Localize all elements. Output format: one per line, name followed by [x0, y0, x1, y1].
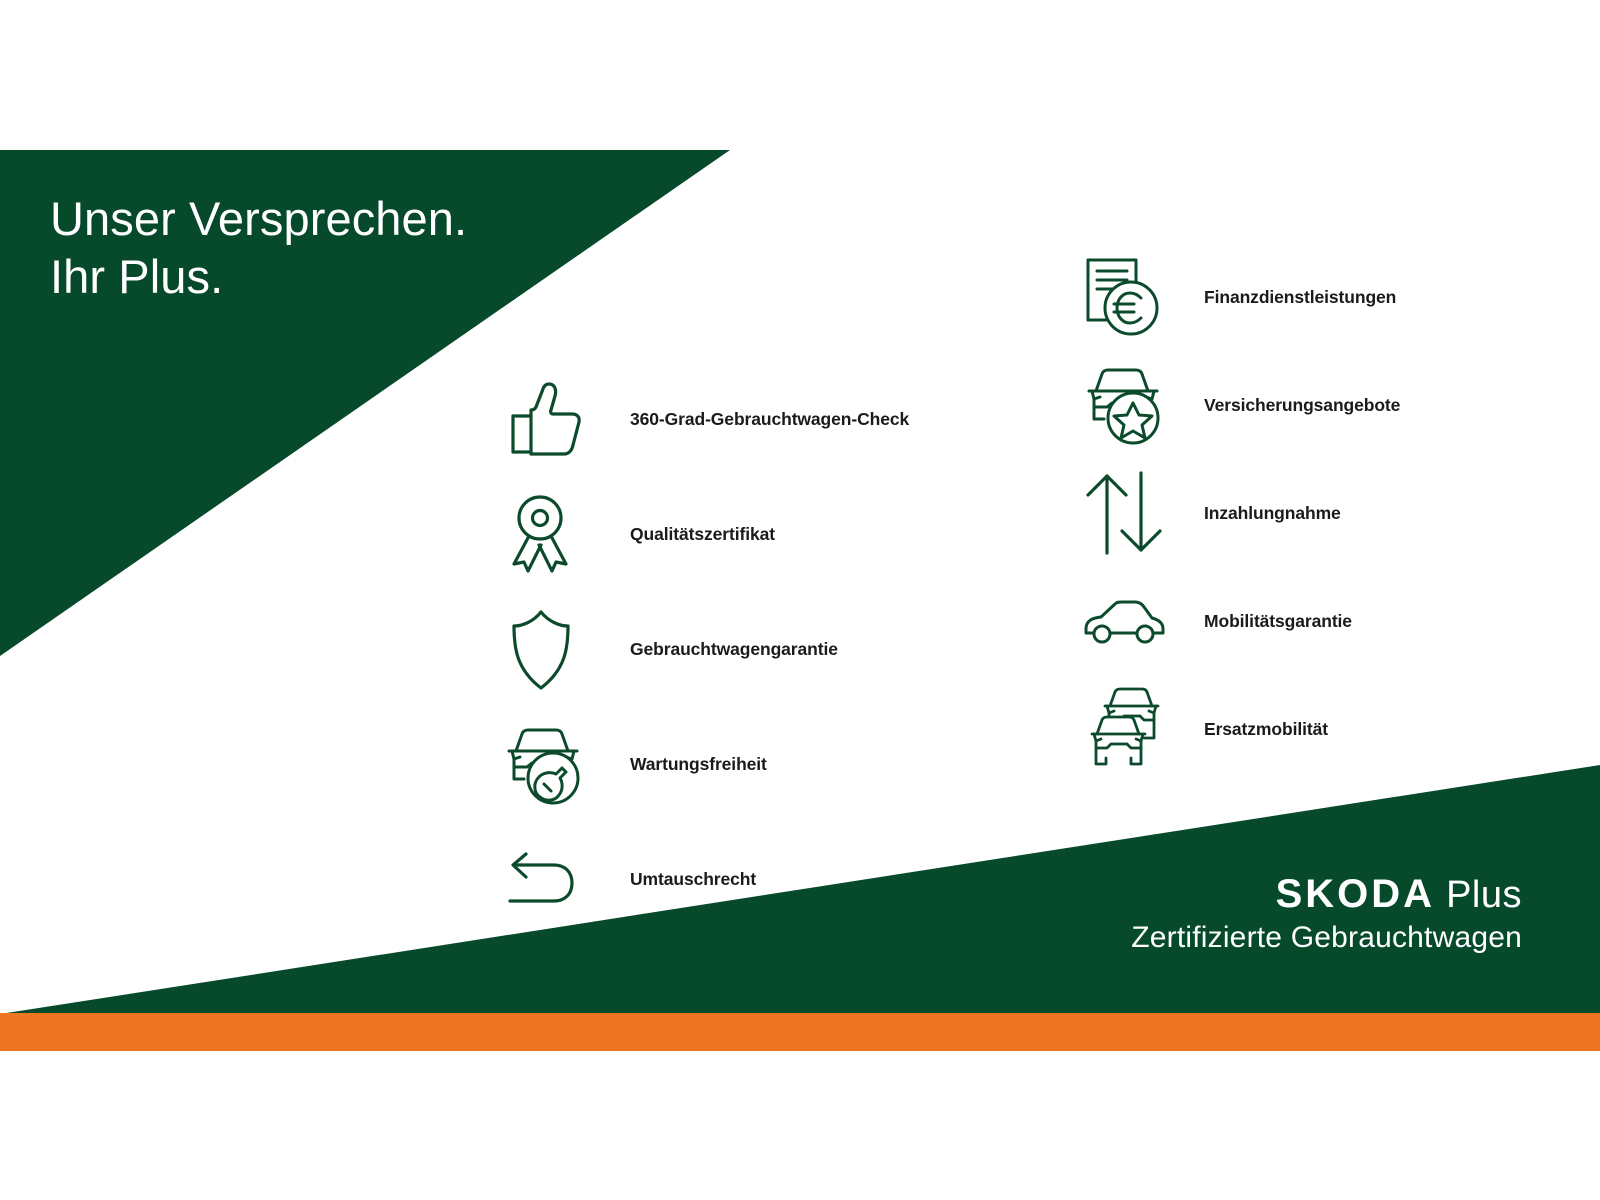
- list-item: Versicherungsangebote: [1080, 351, 1580, 459]
- list-item: Gebrauchtwagengarantie: [500, 592, 1020, 707]
- headline-line-2: Ihr Plus.: [50, 248, 690, 306]
- brand-name: SKODA Plus: [1131, 872, 1522, 917]
- list-item: Mobilitätsgarantie: [1080, 567, 1580, 675]
- award-rosette-icon: [500, 489, 596, 581]
- car-star-icon: [1080, 359, 1176, 451]
- thumbs-up-icon: [500, 374, 596, 466]
- list-item: Qualitätszertifikat: [500, 477, 1020, 592]
- shield-icon: [500, 604, 596, 696]
- feature-list-right: Finanzdienstleistungen Versicherungsange…: [1080, 243, 1580, 783]
- car-wrench-icon: [500, 719, 596, 811]
- page-title: Unser Versprechen. Ihr Plus.: [50, 190, 690, 306]
- list-item: Inzahlungnahme: [1080, 459, 1580, 567]
- list-item-label: Ersatzmobilität: [1204, 719, 1328, 740]
- list-item-label: Inzahlungnahme: [1204, 503, 1341, 524]
- brand-tagline: Zertifizierte Gebrauchtwagen: [1131, 919, 1522, 957]
- promo-banner: Unser Versprechen. Ihr Plus. 360-Grad-Ge…: [0, 0, 1600, 1200]
- list-item-label: 360-Grad-Gebrauchtwagen-Check: [630, 409, 909, 430]
- car-side-icon: [1080, 575, 1176, 667]
- feature-list-left: 360-Grad-Gebrauchtwagen-Check Qualitätsz…: [500, 362, 1020, 937]
- list-item: Finanzdienstleistungen: [1080, 243, 1580, 351]
- orange-accent-bar: [0, 1013, 1600, 1051]
- list-item-label: Wartungsfreiheit: [630, 754, 767, 775]
- headline-line-1: Unser Versprechen.: [50, 192, 467, 245]
- return-arrow-icon: [500, 834, 596, 926]
- brand-lockup: SKODA Plus Zertifizierte Gebrauchtwagen: [1131, 872, 1522, 957]
- list-item-label: Gebrauchtwagengarantie: [630, 639, 838, 660]
- list-item-label: Umtauschrecht: [630, 869, 756, 890]
- list-item: Umtauschrecht: [500, 822, 1020, 937]
- list-item: Wartungsfreiheit: [500, 707, 1020, 822]
- two-cars-icon: [1080, 683, 1176, 775]
- list-item-label: Finanzdienstleistungen: [1204, 287, 1396, 308]
- list-item: Ersatzmobilität: [1080, 675, 1580, 783]
- brand-plus: Plus: [1435, 874, 1522, 916]
- up-down-arrows-icon: [1080, 467, 1176, 559]
- document-euro-icon: [1080, 251, 1176, 343]
- list-item-label: Mobilitätsgarantie: [1204, 611, 1352, 632]
- list-item-label: Versicherungsangebote: [1204, 395, 1400, 416]
- list-item-label: Qualitätszertifikat: [630, 524, 775, 545]
- list-item: 360-Grad-Gebrauchtwagen-Check: [500, 362, 1020, 477]
- skoda-wordmark: SKODA: [1276, 872, 1435, 916]
